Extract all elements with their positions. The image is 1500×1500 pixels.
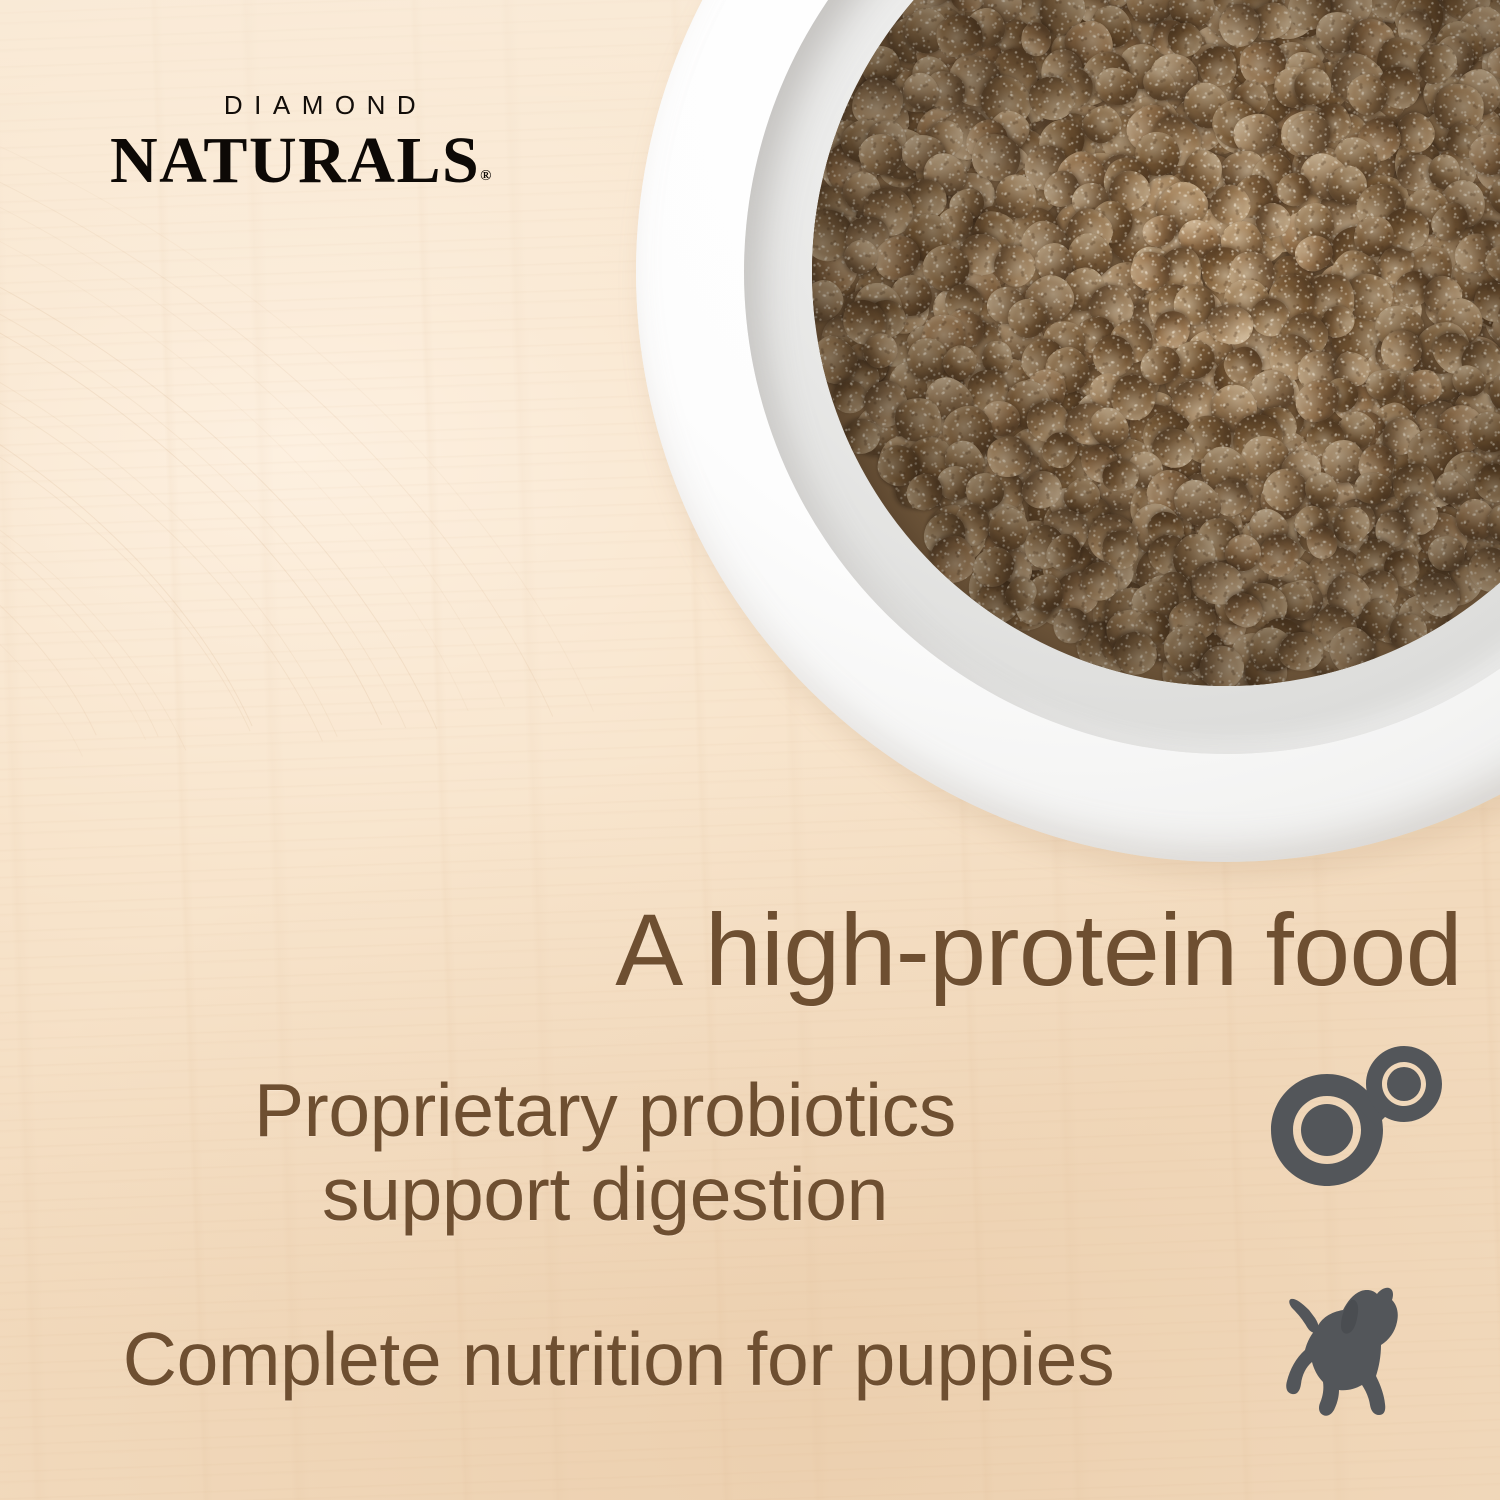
- kibble-piece: [1403, 369, 1442, 405]
- nutrition-claim: Complete nutrition for puppies: [0, 1318, 1237, 1401]
- product-marketing-image: DIAMOND NATURALS® A high-protein food Pr…: [0, 0, 1500, 1500]
- kibble-piece: [1294, 68, 1332, 105]
- probiotics-claim: Proprietary probiotics support digestion: [0, 1068, 1210, 1236]
- registered-trademark-symbol: ®: [480, 168, 491, 184]
- puppy-silhouette-icon: [1281, 1272, 1405, 1424]
- kibble-piece: [832, 379, 867, 414]
- headline-claim: A high-protein food: [0, 898, 1462, 1002]
- bowl-of-kibble-photo: [636, 0, 1500, 862]
- probiotic-cell-icon: [1264, 1042, 1446, 1222]
- brand-name-naturals: NATURALS®: [110, 128, 530, 194]
- brand-logo: DIAMOND NATURALS®: [110, 92, 530, 194]
- probiotics-claim-line2: support digestion: [0, 1152, 1210, 1236]
- brand-name-diamond: DIAMOND: [110, 92, 530, 118]
- probiotics-claim-line1: Proprietary probiotics: [0, 1068, 1210, 1152]
- brand-naturals-word: NATURALS: [110, 124, 480, 197]
